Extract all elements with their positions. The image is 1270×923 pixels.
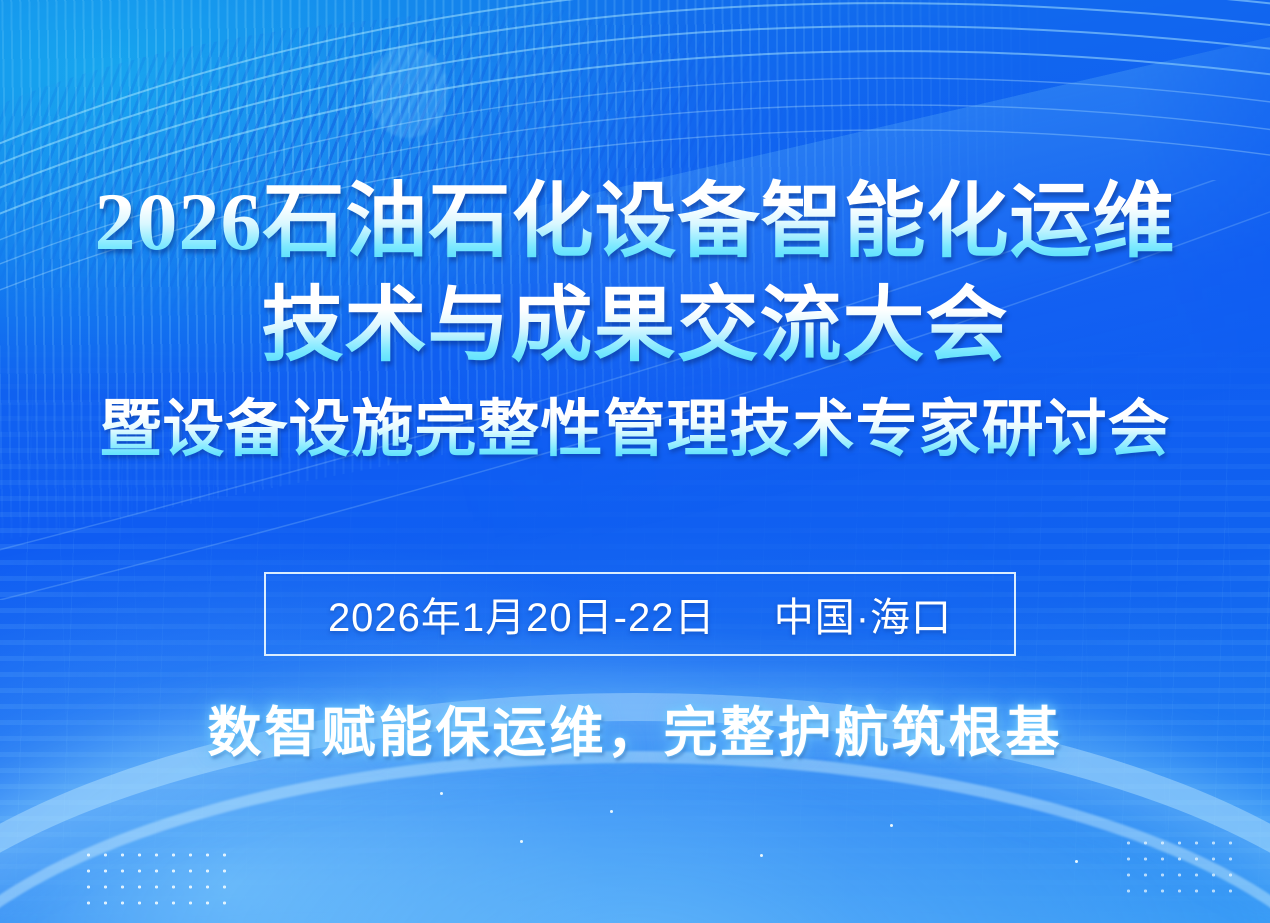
date-location-text: 2026年1月20日-22日 中国·海口 <box>328 585 952 643</box>
event-date: 2026年1月20日-22日 <box>328 596 716 640</box>
date-location-box: 2026年1月20日-22日 中国·海口 <box>264 572 1016 656</box>
subtitle-line: 暨设备设施完整性管理技术专家研讨会 <box>0 392 1270 468</box>
conference-poster: 2026石油石化设备智能化运维 技术与成果交流大会 暨设备设施完整性管理技术专家… <box>0 0 1270 923</box>
poster-content: 2026石油石化设备智能化运维 技术与成果交流大会 暨设备设施完整性管理技术专家… <box>0 0 1270 923</box>
poster-slogan: 数智赋能保运维，完整护航筑根基 <box>0 688 1270 767</box>
title-line-2: 技术与成果交流大会 <box>0 274 1270 378</box>
event-location: 中国·海口 <box>774 596 952 640</box>
poster-title-block: 2026石油石化设备智能化运维 技术与成果交流大会 暨设备设施完整性管理技术专家… <box>0 170 1270 468</box>
title-line-1: 2026石油石化设备智能化运维 <box>0 170 1270 274</box>
